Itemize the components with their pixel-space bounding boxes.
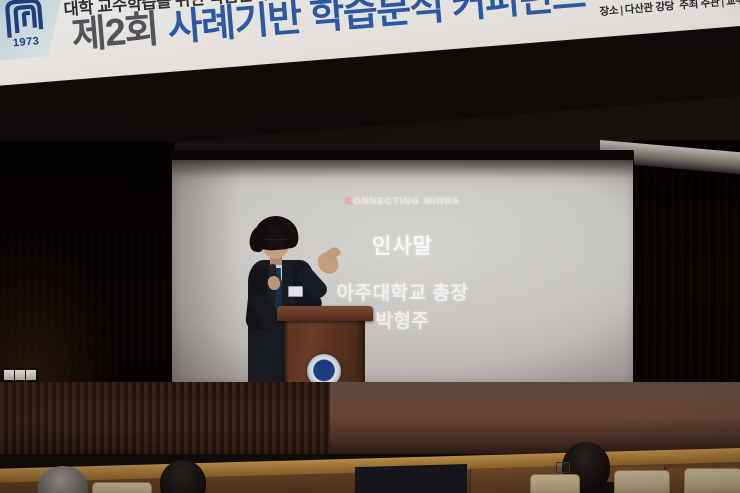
stage-recessed-panel bbox=[355, 464, 467, 493]
podium-lectern-top bbox=[277, 306, 373, 321]
banner-event-details: 일시|2018.11.30 (금) 13:00 ~ 17:10 장소|다산관 강… bbox=[598, 0, 740, 21]
banner-sep: | bbox=[618, 0, 622, 1]
auditorium-seat bbox=[92, 482, 152, 493]
university-crest-inner-icon bbox=[315, 362, 333, 380]
ajou-university-logo-icon: 1973 bbox=[0, 0, 67, 60]
light-switch-panel[interactable] bbox=[2, 368, 38, 382]
banner-place-value: 다산관 강당 bbox=[624, 0, 674, 16]
speaker-glasses bbox=[263, 239, 287, 246]
auditorium-seat bbox=[614, 470, 670, 493]
audience-member-glasses bbox=[556, 462, 570, 473]
stage-floor-sheen bbox=[330, 382, 740, 454]
banner-sep: | bbox=[620, 4, 624, 16]
speaker-name-badge bbox=[288, 286, 303, 297]
banner-place-label: 장소 bbox=[599, 4, 619, 17]
banner-place-row: 장소|다산관 강당 주최 주관|교수학습 bbox=[599, 0, 740, 21]
banner-title-ordinal: 제2회 bbox=[70, 9, 159, 58]
auditorium-seat bbox=[684, 468, 740, 493]
stage-floor-reflection bbox=[0, 382, 330, 454]
switch-plate-3 bbox=[26, 370, 36, 380]
switch-plate-1 bbox=[4, 370, 14, 380]
banner-host-value: 교수학습 bbox=[725, 0, 740, 8]
banner-title-main: 사례기반 학습분석 커퍼런스 bbox=[166, 0, 586, 50]
banner-sep: | bbox=[721, 0, 725, 8]
conference-photo: CONNECTING MINDS 인사말 아주대학교 총장 박형주 bbox=[0, 0, 740, 493]
banner-host-label: 주최 주관 bbox=[679, 0, 720, 11]
conference-banner: 1973 대학 교수학습을 위한 학습분석의 실제적 적용 분야와 가능성 제2… bbox=[0, 0, 740, 142]
switch-plate-2 bbox=[15, 370, 25, 380]
banner-date-label: 일시 bbox=[598, 0, 618, 2]
auditorium-seat bbox=[530, 474, 580, 493]
speaker-right-fingers bbox=[325, 245, 342, 260]
